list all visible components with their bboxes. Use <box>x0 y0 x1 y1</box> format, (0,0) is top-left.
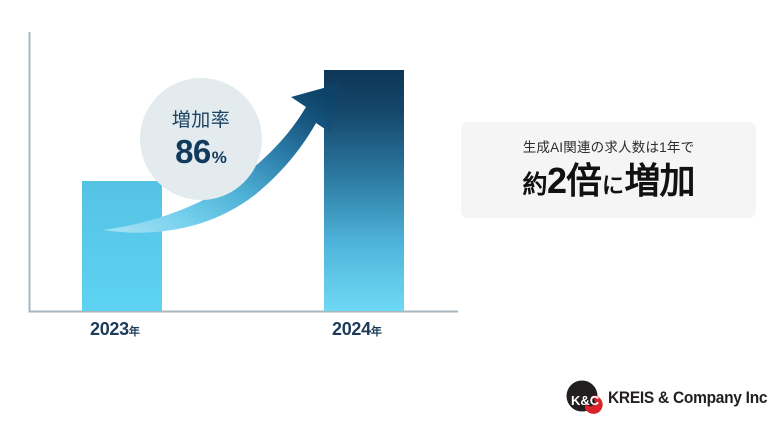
kreis-logo-mark-icon: K&C <box>563 379 607 417</box>
bar-2024 <box>324 70 404 311</box>
bar-chart: 増加率 86 % 2023年 2024年 <box>0 0 470 360</box>
headline-part-4: に <box>601 175 625 197</box>
category-year-2023: 2023 <box>90 319 129 339</box>
message-headline: 約 2 倍 に 増加 <box>522 163 694 199</box>
growth-rate-label: 増加率 <box>172 111 231 130</box>
category-year-2024: 2024 <box>332 319 371 339</box>
kreis-mark-text: K&C <box>571 393 600 408</box>
company-logo: K&C KREIS & Company Inc. <box>563 378 763 418</box>
message-kicker: 生成AI関連の求人数は1年で <box>523 141 695 155</box>
message-panel: 生成AI関連の求人数は1年で 約 2 倍 に 増加 <box>461 122 756 218</box>
headline-part-2: 2 <box>547 163 566 199</box>
kreis-mark-svg: K&C <box>563 379 607 417</box>
headline-part-1: 約 <box>522 173 547 198</box>
headline-part-3: 倍 <box>566 163 601 199</box>
category-label-2024: 2024年 <box>332 320 382 339</box>
category-suffix-2023: 年 <box>129 326 140 338</box>
slide-root: 増加率 86 % 2023年 2024年 生成AI関連の求人数は1年で 約 2 … <box>0 0 768 437</box>
headline-part-5: 増加 <box>625 163 695 199</box>
growth-rate-badge: 増加率 86 % <box>140 78 262 200</box>
growth-rate-value: 86 % <box>175 135 227 168</box>
bar-2023 <box>82 181 162 311</box>
growth-rate-number: 86 <box>175 135 211 168</box>
category-suffix-2024: 年 <box>371 326 382 338</box>
growth-rate-unit: % <box>212 149 227 166</box>
company-wordmark: KREIS & Company Inc. <box>608 390 768 407</box>
category-label-2023: 2023年 <box>90 320 140 339</box>
